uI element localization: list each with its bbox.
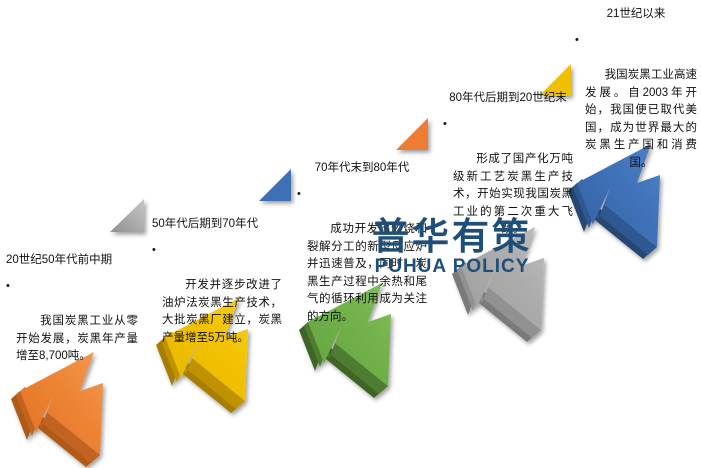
stage-body-text-3: 成功开发出燃烧和裂解分工的新型反应炉并迅速普及，同时，炭黑生产过程中余热和尾气的… xyxy=(307,223,427,323)
stage-body-text-5: 我国炭黑工业高速发展。自2003年开始，我国便已取代美国，成为世界最大的炭黑生产… xyxy=(585,69,697,169)
stage-body-5: • 我国炭黑工业高速发展。自2003年开始，我国便已取代美国，成为世界最大的炭黑… xyxy=(575,32,697,190)
stage-block-5[interactable]: 21世纪以来 • 我国炭黑工业高速发展。自2003年开始，我国便已取代美国，成为… xyxy=(575,6,697,190)
stage-block-1[interactable]: 20世纪50年代前中期 • 我国炭黑工业从零开始发展，炭黑年产量增至8,700吨… xyxy=(6,252,138,383)
stage-body-1: • 我国炭黑工业从零开始发展，炭黑年产量增至8,700吨。 xyxy=(6,278,138,383)
stage-title-1: 20世纪50年代前中期 xyxy=(6,252,138,269)
stage-title-4: 80年代后期到20世纪末 xyxy=(443,90,573,107)
stage-title-5: 21世纪以来 xyxy=(575,6,697,23)
bullet-icon: • xyxy=(6,278,10,296)
stage-block-3[interactable]: 70年代末到80年代 • 成功开发出燃烧和裂解分工的新型反应炉并迅速普及，同时，… xyxy=(297,160,427,344)
stage-body-4: • 形成了国产化万吨级新工艺炭黑生产技术，开始实现我国炭黑工业的第二次重大飞跃。 xyxy=(443,116,573,256)
arrow-tip-orange-small xyxy=(396,118,428,150)
arrow-tip-gray-small xyxy=(110,199,144,232)
stage-body-2: • 开发并逐步改进了油炉法炭黑生产技术，大批炭黑厂建立，炭黑产量增至5万吨。 xyxy=(152,242,282,365)
stage-body-text-4: 形成了国产化万吨级新工艺炭黑生产技术，开始实现我国炭黑工业的第二次重大飞跃。 xyxy=(453,153,573,235)
slide-canvas: 20世纪50年代前中期 • 我国炭黑工业从零开始发展，炭黑年产量增至8,700吨… xyxy=(0,0,701,468)
stage-block-2[interactable]: 50年代后期到70年代 • 开发并逐步改进了油炉法炭黑生产技术，大批炭黑厂建立，… xyxy=(152,216,282,365)
bullet-icon: • xyxy=(152,242,156,260)
stage-block-4[interactable]: 80年代后期到20世纪末 • 形成了国产化万吨级新工艺炭黑生产技术，开始实现我国… xyxy=(443,90,573,256)
stage-title-3: 70年代末到80年代 xyxy=(297,160,427,177)
bullet-icon: • xyxy=(443,116,447,134)
bullet-icon: • xyxy=(297,186,301,204)
stage-body-text-2: 开发并逐步改进了油炉法炭黑生产技术，大批炭黑厂建立，炭黑产量增至5万吨。 xyxy=(162,279,282,344)
stage-body-3: • 成功开发出燃烧和裂解分工的新型反应炉并迅速普及，同时，炭黑生产过程中余热和尾… xyxy=(297,186,427,344)
bullet-icon: • xyxy=(575,32,579,50)
stage-title-2: 50年代后期到70年代 xyxy=(152,216,282,233)
stage-body-text-1: 我国炭黑工业从零开始发展，炭黑年产量增至8,700吨。 xyxy=(16,315,138,362)
arrow-tip-blue-small xyxy=(259,169,291,201)
